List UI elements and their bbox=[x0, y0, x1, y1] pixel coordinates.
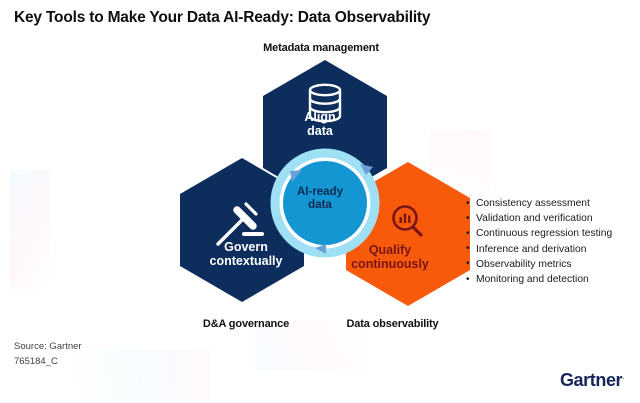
page-title: Key Tools to Make Your Data AI-Ready: Da… bbox=[14, 9, 614, 28]
bullet-list: Consistency assessment Validation and ve… bbox=[466, 196, 638, 287]
gartner-logo-mark: . bbox=[622, 372, 624, 381]
list-item: Consistency assessment bbox=[466, 196, 638, 211]
source-id-label: 765184_C bbox=[14, 354, 58, 369]
center-node-ai-ready-data[interactable] bbox=[272, 150, 378, 256]
gartner-logo: Gartner. bbox=[560, 370, 624, 391]
compression-artifact bbox=[70, 350, 210, 400]
triad-hexagon-diagram bbox=[180, 58, 470, 318]
list-item: Observability metrics bbox=[466, 257, 638, 272]
gartner-logo-text: Gartner bbox=[560, 370, 622, 390]
infographic-page: Key Tools to Make Your Data AI-Ready: Da… bbox=[0, 0, 640, 403]
list-item: Validation and verification bbox=[466, 211, 638, 226]
caption-metadata-management: Metadata management bbox=[196, 42, 446, 54]
data-observability-bullet-list: Consistency assessment Validation and ve… bbox=[466, 196, 638, 287]
caption-data-observability: Data observability bbox=[320, 318, 465, 330]
compression-artifact bbox=[10, 170, 50, 290]
list-item: Inference and derivation bbox=[466, 242, 638, 257]
caption-da-governance: D&A governance bbox=[176, 318, 316, 330]
source-label: Source: Gartner bbox=[14, 339, 82, 354]
list-item: Monitoring and detection bbox=[466, 272, 638, 287]
list-item: Continuous regression testing bbox=[466, 226, 638, 241]
